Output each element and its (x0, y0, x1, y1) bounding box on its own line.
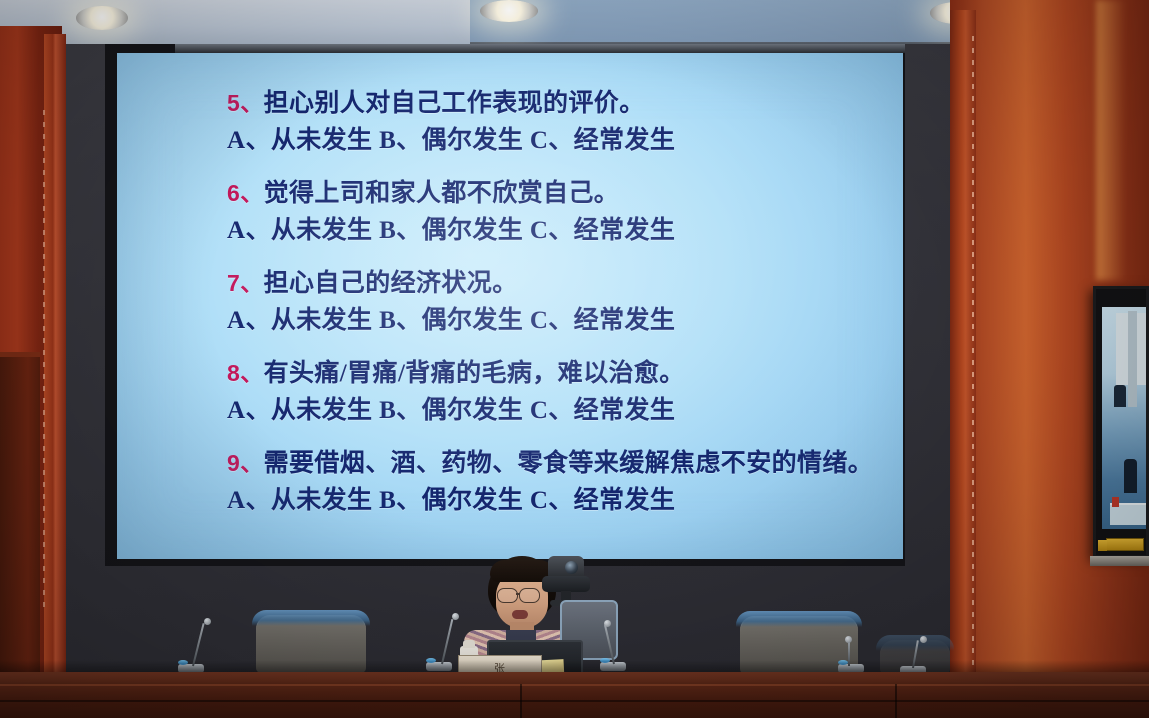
podium-desk-groove (0, 700, 1149, 702)
presentation-slide: 5、担心别人对自己工作表现的评价。 A、从未发生 B、偶尔发生 C、经常发生 6… (117, 53, 903, 559)
question-options: A、从未发生 B、偶尔发生 C、经常发生 (227, 484, 881, 517)
lecture-hall-scene: 5、担心别人对自己工作表现的评价。 A、从未发生 B、偶尔发生 C、经常发生 6… (0, 0, 1149, 718)
ceiling-downlight-icon (480, 0, 538, 22)
question-text: 担心自己的经济状况。 (264, 270, 518, 297)
question-text: 担心别人对自己工作表现的评价。 (264, 90, 645, 117)
glasses-lens-left-icon (497, 588, 518, 603)
monitor-feed-column (1128, 311, 1137, 407)
podium-desk-seam (520, 684, 522, 718)
wall-highlight-right (1096, 0, 1126, 280)
microphone-head-icon (604, 620, 611, 627)
slide-question-block: 5、担心别人对自己工作表现的评价。 A、从未发生 B、偶尔发生 C、经常发生 (227, 87, 881, 157)
slide-question-block: 9、需要借烟、酒、药物、零食等来缓解焦虑不安的情绪。 A、从未发生 B、偶尔发生… (227, 447, 881, 517)
question-options: A、从未发生 B、偶尔发生 C、经常发生 (227, 394, 881, 427)
question-options: A、从未发生 B、偶尔发生 C、经常发生 (227, 304, 881, 337)
wall-monitor-plaque (1106, 538, 1144, 551)
monitor-feed-figure (1124, 459, 1137, 493)
wall-monitor-screen (1102, 307, 1146, 529)
question-number: 5、 (227, 90, 264, 116)
microphone-head-icon (452, 613, 459, 620)
question-line: 7、担心自己的经济状况。 (227, 267, 881, 300)
ptz-camera (542, 556, 590, 606)
question-text: 觉得上司和家人都不欣赏自己。 (264, 180, 620, 207)
camera-body (542, 576, 590, 592)
ceiling-downlight-icon (76, 6, 128, 30)
podium-desk-seam (895, 684, 897, 718)
microphone-head-icon (920, 636, 927, 643)
wall-monitor (1093, 286, 1149, 558)
projection-screen: 5、担心别人对自己工作表现的评价。 A、从未发生 B、偶尔发生 C、经常发生 6… (117, 53, 903, 559)
question-text: 有头痛/胃痛/背痛的毛病，难以治愈。 (264, 360, 685, 387)
question-line: 6、觉得上司和家人都不欣赏自己。 (227, 177, 881, 210)
question-number: 8、 (227, 360, 264, 386)
camera-head (548, 556, 584, 578)
microphone-head-icon (845, 636, 852, 643)
cup-lid (463, 640, 475, 648)
wall-trim-dashes-right (972, 36, 974, 696)
presenter-mouth (512, 610, 528, 619)
question-line: 9、需要借烟、酒、药物、零食等来缓解焦虑不安的情绪。 (227, 447, 881, 480)
question-number: 6、 (227, 180, 264, 206)
glasses-bridge-icon (516, 593, 520, 595)
wall-trim-left (44, 34, 66, 718)
question-number: 7、 (227, 270, 264, 296)
glasses-lens-right-icon (519, 588, 540, 603)
slide-question-block: 6、觉得上司和家人都不欣赏自己。 A、从未发生 B、偶尔发生 C、经常发生 (227, 177, 881, 247)
monitor-feed-figure (1114, 385, 1126, 407)
wall-monitor-shelf (1090, 556, 1149, 566)
question-options: A、从未发生 B、偶尔发生 C、经常发生 (227, 214, 881, 247)
slide-question-block: 7、担心自己的经济状况。 A、从未发生 B、偶尔发生 C、经常发生 (227, 267, 881, 337)
wall-trim-dashes-left (43, 110, 45, 610)
question-line: 5、担心别人对自己工作表现的评价。 (227, 87, 881, 120)
camera-lens-icon (565, 561, 578, 574)
question-options: A、从未发生 B、偶尔发生 C、经常发生 (227, 124, 881, 157)
slide-question-block: 8、有头痛/胃痛/背痛的毛病，难以治愈。 A、从未发生 B、偶尔发生 C、经常发… (227, 357, 881, 427)
wall-monitor-plaque-small (1098, 540, 1107, 551)
microphone-head-icon (204, 618, 211, 625)
question-text: 需要借烟、酒、药物、零食等来缓解焦虑不安的情绪。 (264, 450, 874, 477)
monitor-feed-accent (1112, 497, 1119, 507)
projection-screen-rail (175, 44, 905, 53)
question-line: 8、有头痛/胃痛/背痛的毛病，难以治愈。 (227, 357, 881, 390)
question-number: 9、 (227, 450, 264, 476)
